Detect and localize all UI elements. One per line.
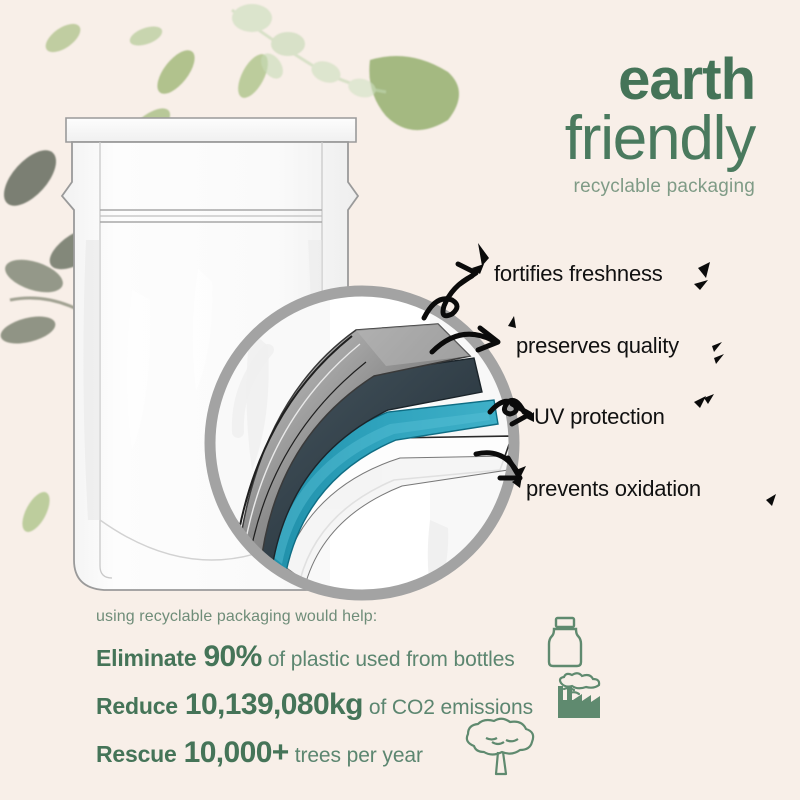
headline-line-1: earth — [455, 52, 755, 108]
tree-icon — [452, 716, 548, 778]
factory-icon — [548, 668, 606, 722]
curl-arrow-head — [458, 264, 476, 284]
poster-canvas: earth friendly recyclable packaging fort… — [0, 0, 800, 800]
headline-subtitle: recyclable packaging — [455, 176, 755, 198]
stat-value: 90% — [203, 640, 261, 674]
headline-line-2: friendly — [455, 108, 755, 170]
stat-verb: Reduce — [96, 693, 178, 720]
feature-label-fortifies-freshness: fortifies freshness — [494, 261, 663, 287]
stat-verb: Eliminate — [96, 645, 196, 672]
feature-label-uv-protection: UV protection — [534, 404, 665, 430]
stat-value: 10,000+ — [184, 736, 289, 770]
stat-tail: of plastic used from bottles — [268, 648, 515, 672]
stat-row-rescue: Rescue 10,000+ trees per year — [96, 736, 656, 770]
bottle-icon — [543, 614, 587, 670]
stat-tail: trees per year — [295, 744, 423, 768]
headline-block: earth friendly recyclable packaging — [455, 52, 755, 198]
feature-label-prevents-oxidation: prevents oxidation — [526, 476, 701, 502]
feature-label-preserves-quality: preserves quality — [516, 333, 679, 359]
stat-value: 10,139,080kg — [185, 688, 363, 722]
stat-verb: Rescue — [96, 741, 177, 768]
